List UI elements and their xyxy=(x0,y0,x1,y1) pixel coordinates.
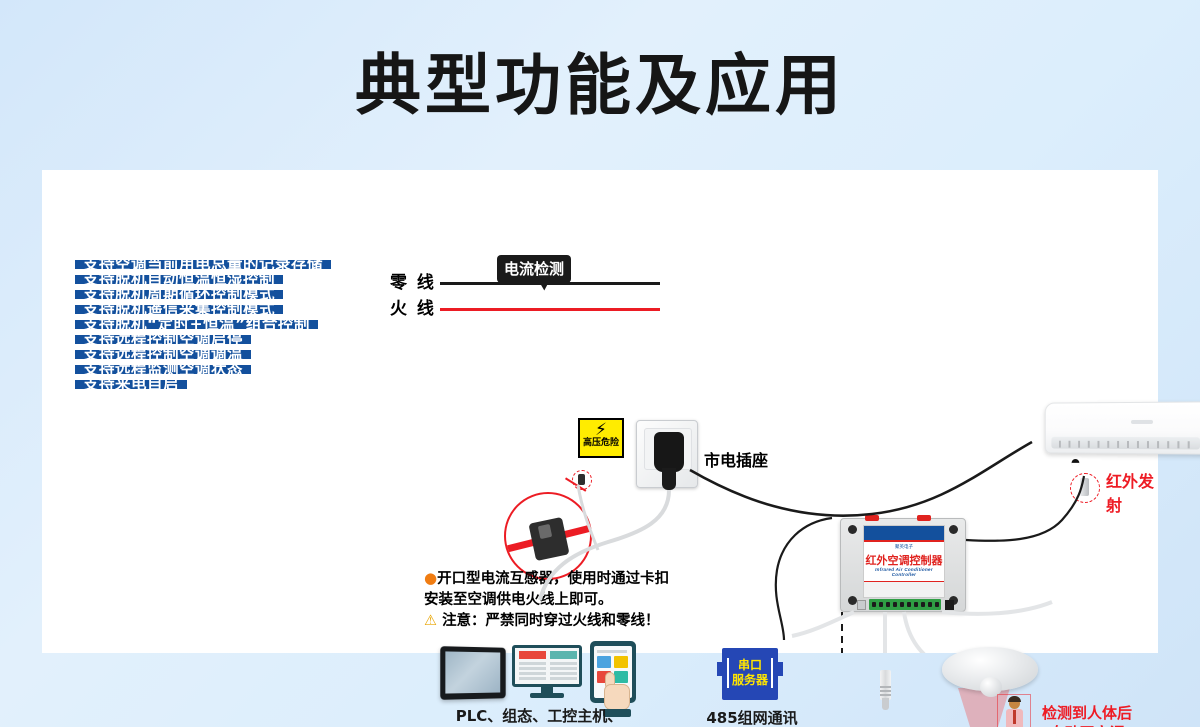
feature-item[interactable]: 支持脱机“定时+恒温”组合控制 xyxy=(75,320,318,329)
ac-air-vent xyxy=(1051,437,1200,450)
screw-icon xyxy=(848,525,857,534)
controller-to-ir-cable xyxy=(966,476,1084,541)
poster-root: 典型功能及应用 支持空调当前用电总量的记录存储 支持脱机自动恒温恒湿控制 支持脱… xyxy=(0,0,1200,727)
installation-notes: ●开口型电流互感器，使用时通过卡扣 安装至空调供电火线上即可。 ⚠ 注意：严禁同… xyxy=(424,568,669,632)
monitor-screen xyxy=(512,645,582,687)
ir-ac-controller-device[interactable]: 聚英电子 红外空调控制器 Infrared Air Conditioner Co… xyxy=(840,518,966,612)
socket-label: 市电插座 xyxy=(704,447,768,471)
hosts-caption-line-1: PLC、组态、工控主机、 xyxy=(414,706,664,727)
ct-clamp-latch xyxy=(538,524,552,539)
callout-tail xyxy=(538,277,554,292)
page-title: 典型功能及应用 xyxy=(0,32,1200,128)
ac-display-strip xyxy=(1131,420,1153,424)
controller-aux-cable-left xyxy=(792,612,854,636)
desktop-monitor-icon xyxy=(512,645,582,697)
serial-server-caption: 485组网通讯 xyxy=(692,708,812,727)
monitor-base xyxy=(530,693,564,698)
feature-item[interactable]: 支持脱机周期循环控制模式 xyxy=(75,290,283,299)
note-line-1: 开口型电流互感器，使用时通过卡扣 xyxy=(437,571,669,587)
feature-item[interactable]: 支持脱机自动恒温恒湿控制 xyxy=(75,275,283,284)
panel-pc-screen xyxy=(445,651,500,693)
controller-brand: 聚英电子 xyxy=(864,544,944,550)
warning-triangle-icon: ⚠ xyxy=(424,613,437,629)
controller-header-bar xyxy=(864,526,944,542)
lightning-bolt-icon: ⚡ xyxy=(595,421,607,438)
controller-tab-left xyxy=(865,515,879,521)
feature-list: 支持空调当前用电总量的记录存储 支持脱机自动恒温恒湿控制 支持脱机周期循环控制模… xyxy=(75,260,331,395)
ct-sensor-magnified xyxy=(504,492,592,580)
screw-icon xyxy=(949,525,958,534)
probe-tip xyxy=(882,698,889,710)
controller-model-name: 红外空调控制器 xyxy=(864,552,944,568)
warning-sign-text: 高压危险 xyxy=(583,438,619,449)
neutral-wire-label: 零 线 xyxy=(390,268,436,293)
ir-emitter-icon xyxy=(1080,478,1089,496)
feature-item[interactable]: 支持脱机遥信采集控制模式 xyxy=(75,305,283,314)
walking-person-icon xyxy=(997,694,1031,727)
note-line-2: 安装至空调供电火线上即可。 xyxy=(424,592,613,608)
pir-cable xyxy=(904,612,980,653)
feature-item[interactable]: 支持远程控制空调调温 xyxy=(75,350,251,359)
plug-cable-neck xyxy=(662,468,676,490)
controller-to-serial-cable xyxy=(776,518,832,640)
feature-item[interactable]: 支持远程控制空调启停 xyxy=(75,335,251,344)
serial-server-label: 串口 服务器 xyxy=(722,658,778,688)
temp-humidity-probe xyxy=(880,670,891,700)
controller-black-port xyxy=(945,600,954,610)
feature-item[interactable]: 支持远程监测空调状态 xyxy=(75,365,251,374)
monitor-header-red xyxy=(519,651,546,659)
screw-icon xyxy=(848,596,857,605)
monitor-header-teal xyxy=(550,651,577,659)
controller-model-subtitle: Infrared Air Conditioner Controller xyxy=(864,567,944,577)
note-line-3: 注意：严禁同时穿过火线和零线！ xyxy=(442,613,660,629)
orange-dot-icon: ● xyxy=(424,569,437,587)
serial-server-line-2: 服务器 xyxy=(722,673,778,688)
controller-faceplate: 聚英电子 红外空调控制器 Infrared Air Conditioner Co… xyxy=(863,525,945,598)
serial-server-device[interactable]: 串口 服务器 xyxy=(722,648,778,700)
feature-item[interactable]: 支持来电自启 xyxy=(75,380,187,389)
ct-sensor-marker-body xyxy=(578,474,585,485)
controller-usb-port xyxy=(857,600,866,610)
controller-tab-right xyxy=(917,515,931,521)
signal-waves-icon: ◓ xyxy=(1070,452,1081,473)
plug-body xyxy=(654,432,684,472)
live-wire-line xyxy=(440,308,660,311)
air-conditioner-unit xyxy=(1045,401,1200,454)
pir-label-line-2: 自动开空调 xyxy=(1042,723,1132,727)
live-wire-label: 火 线 xyxy=(390,294,436,319)
ir-emitter-label: 红外发射 xyxy=(1106,468,1158,516)
controller-terminal-block xyxy=(869,599,941,610)
serial-server-line-1: 串口 xyxy=(722,658,778,673)
pir-label: 检测到人体后 自动开空调 xyxy=(1042,703,1132,727)
content-panel: 支持空调当前用电总量的记录存储 支持脱机自动恒温恒湿控制 支持脱机周期循环控制模… xyxy=(42,170,1158,653)
hosts-caption: PLC、组态、工控主机、 APP等空调远程在线控制系统 xyxy=(414,706,664,727)
current-detection-callout: 电流检测 xyxy=(497,255,571,283)
industrial-panel-pc-icon xyxy=(440,646,505,700)
controller-footer-bar xyxy=(864,581,944,597)
feature-item[interactable]: 支持空调当前用电总量的记录存储 xyxy=(75,260,331,269)
high-voltage-warning-sign: ⚡ 高压危险 xyxy=(578,418,624,458)
pir-label-line-1: 检测到人体后 xyxy=(1042,703,1132,723)
rs485-dashed-link xyxy=(702,612,842,653)
